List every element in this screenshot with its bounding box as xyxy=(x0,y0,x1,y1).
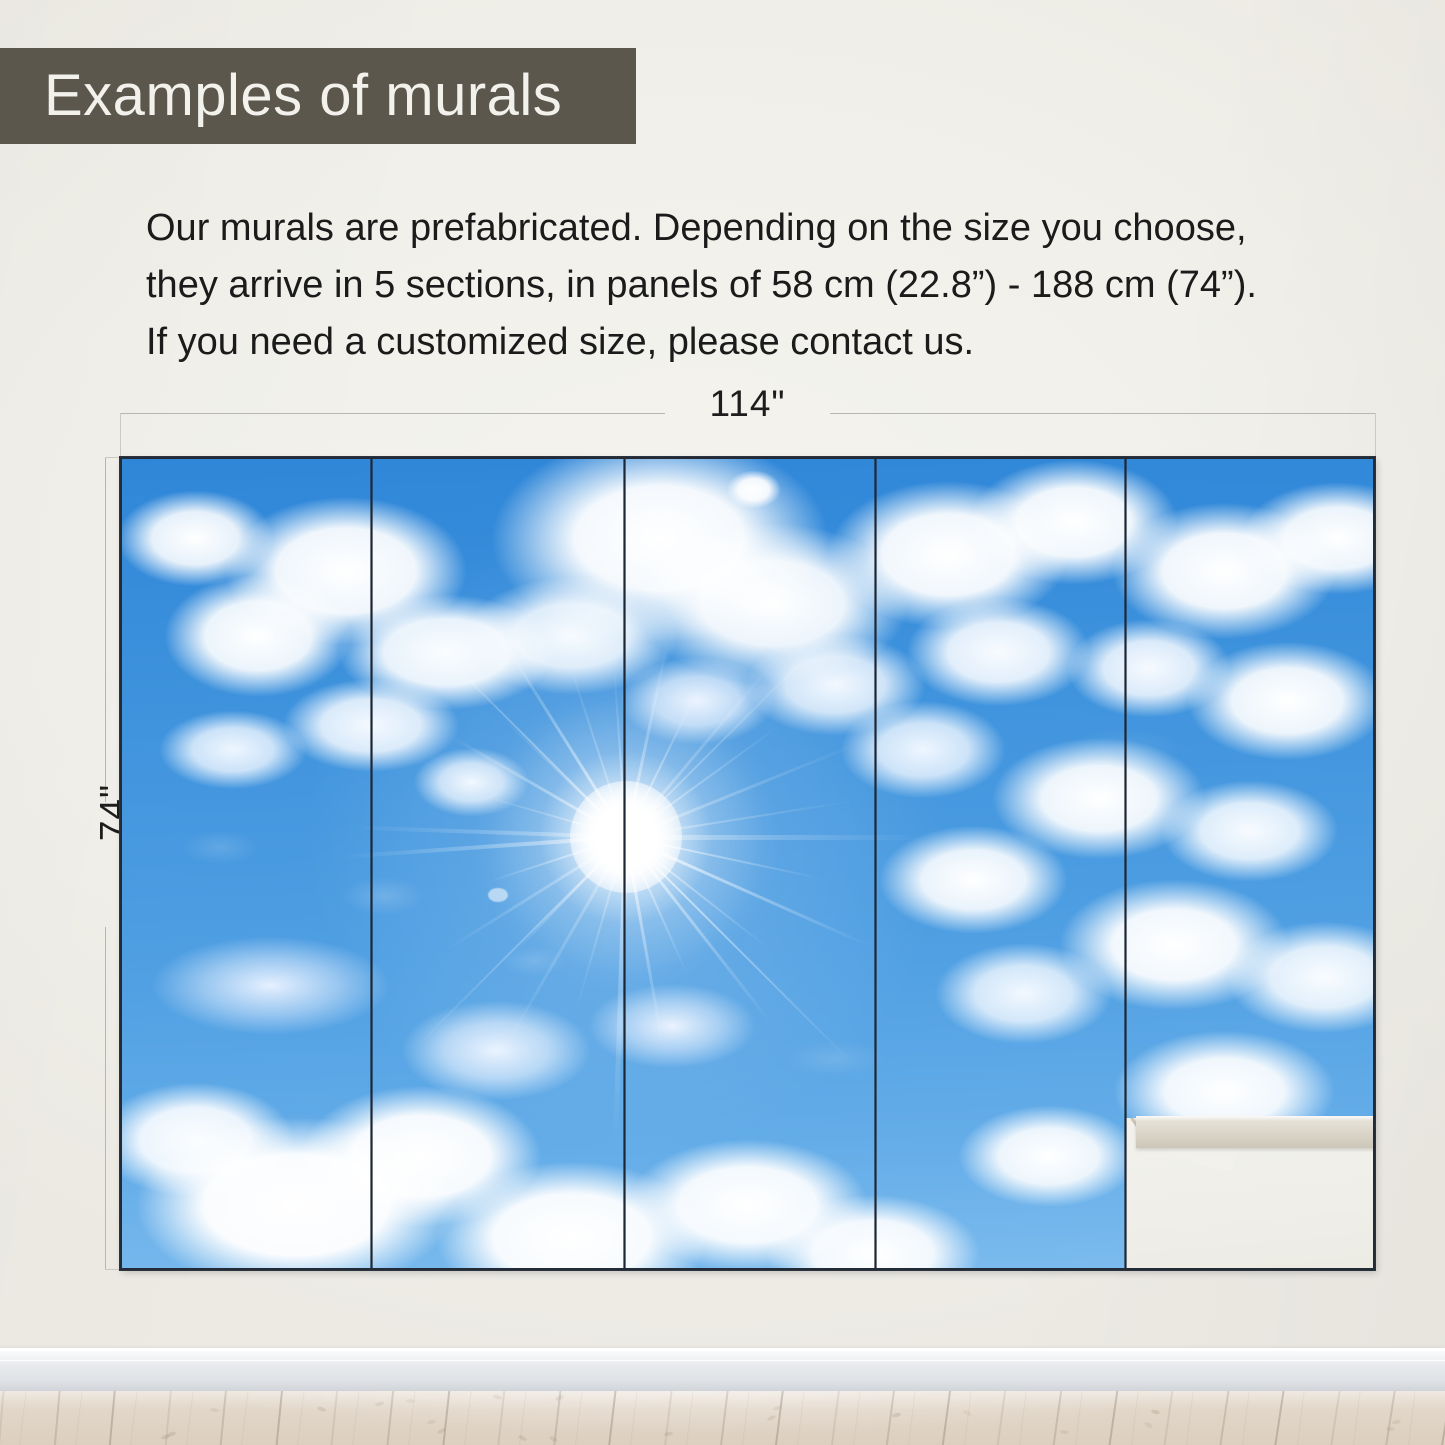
wood-floor xyxy=(0,1391,1445,1445)
width-dimension-tick-right xyxy=(1375,413,1376,459)
floor-knot xyxy=(1386,1427,1395,1431)
description-line-3: If you need a customized size, please co… xyxy=(146,314,1326,371)
panel-seam-2-3 xyxy=(623,457,626,1270)
height-dimension: 74" xyxy=(105,457,106,1270)
panel-seam-3-4 xyxy=(874,457,877,1270)
scene: Examples of murals Our murals are prefab… xyxy=(0,0,1445,1445)
baseboard-top-edge xyxy=(0,1348,1445,1351)
description-text: Our murals are prefabricated. Depending … xyxy=(146,200,1326,371)
width-dimension-tick-left xyxy=(120,413,121,459)
width-dimension: 114" xyxy=(120,413,1376,414)
page-title: Examples of murals xyxy=(0,67,562,125)
height-dimension-line-bottom xyxy=(105,927,106,1270)
peel-curl[interactable] xyxy=(1136,1116,1375,1148)
width-dimension-line-left xyxy=(120,413,665,414)
mural-preview[interactable] xyxy=(120,457,1375,1270)
width-dimension-line-right xyxy=(830,413,1376,414)
title-banner: Examples of murals xyxy=(0,48,636,144)
lens-flare-dot xyxy=(488,888,508,902)
panel-seam-1-2 xyxy=(370,457,373,1270)
baseboard xyxy=(0,1348,1445,1393)
description-line-2: they arrive in 5 sections, in panels of … xyxy=(146,257,1326,314)
panel-seam-4-5 xyxy=(1124,457,1127,1270)
width-dimension-label: 114" xyxy=(665,385,830,422)
baseboard-groove xyxy=(0,1360,1445,1361)
description-line-1: Our murals are prefabricated. Depending … xyxy=(146,200,1326,257)
